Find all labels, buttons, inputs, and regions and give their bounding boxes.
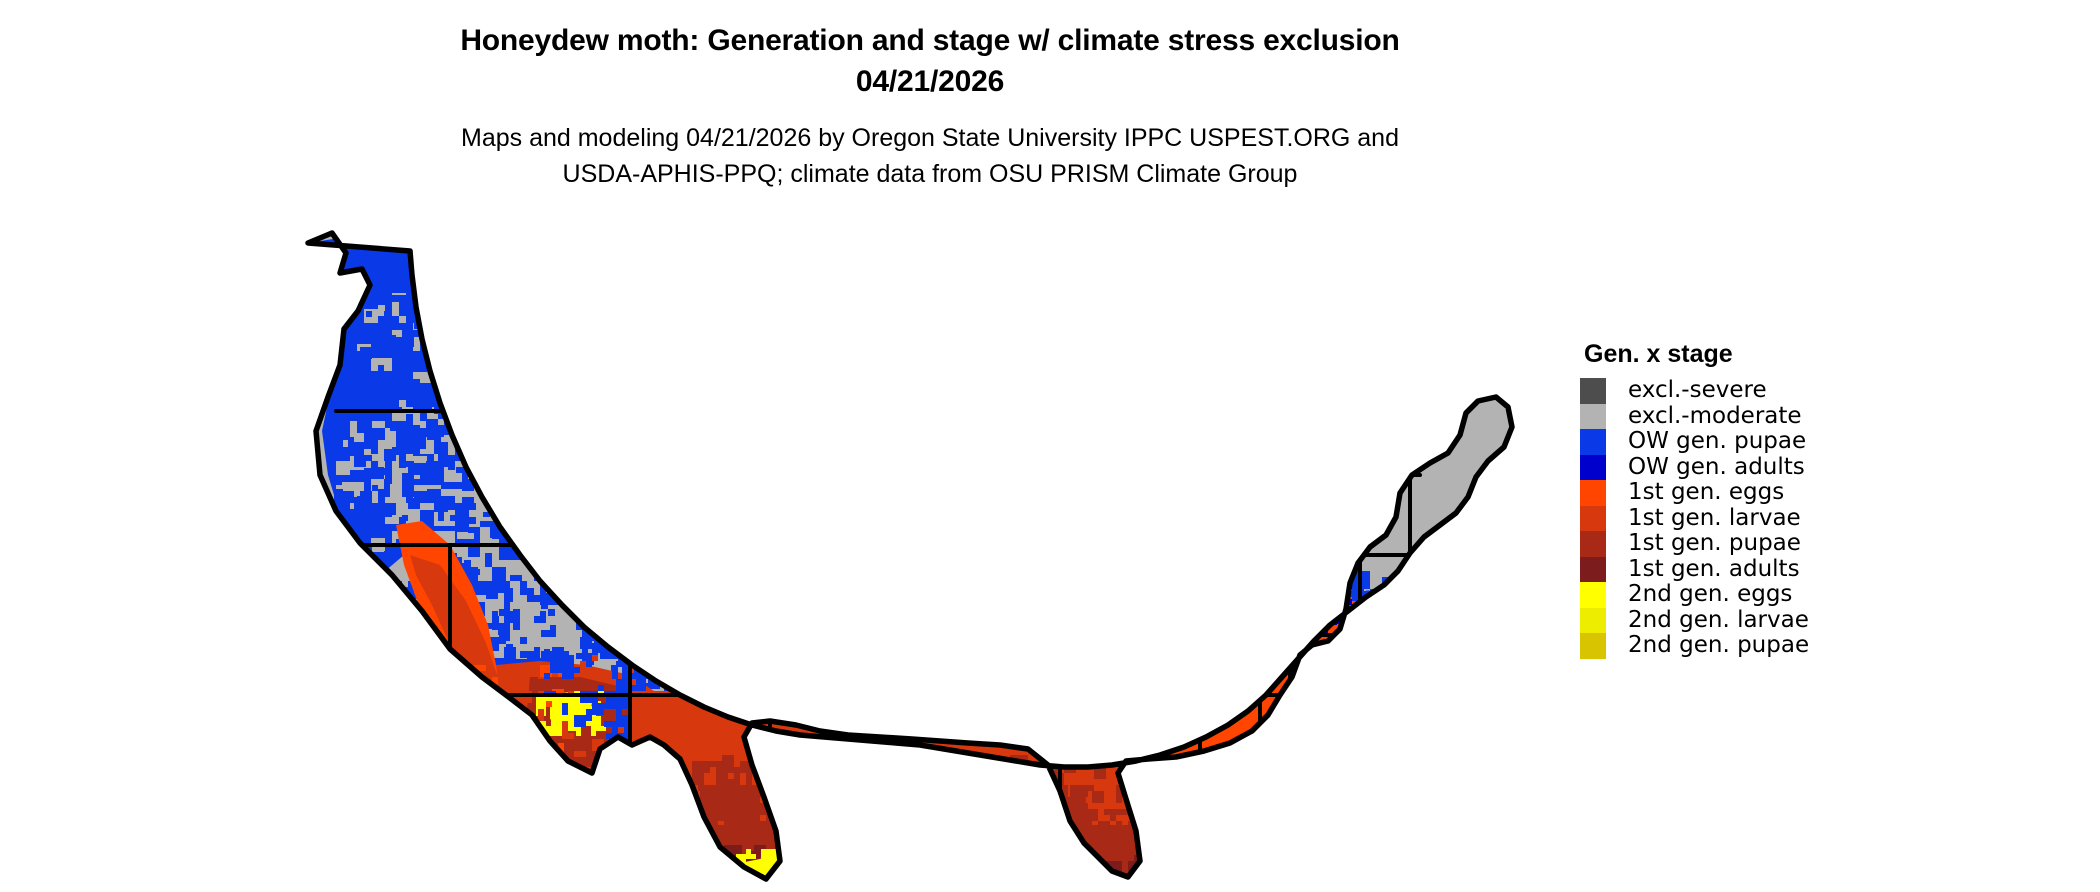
legend-rows: excl.-severeexcl.-moderateOW gen. pupaeO…: [1580, 378, 2060, 659]
legend-item-label: OW gen. pupae: [1628, 429, 1806, 455]
legend-color-swatch: [1580, 506, 1606, 532]
map-svg: [300, 225, 1580, 885]
legend-item-label: 2nd gen. larvae: [1628, 608, 1809, 634]
legend-item: OW gen. pupae: [1580, 429, 2060, 455]
legend-color-swatch: [1580, 404, 1606, 430]
legend-color-swatch: [1580, 557, 1606, 583]
legend-color-swatch: [1580, 480, 1606, 506]
page-subtitle: Maps and modeling 04/21/2026 by Oregon S…: [0, 120, 1860, 192]
legend: Gen. x stage excl.-severeexcl.-moderateO…: [1580, 340, 2060, 659]
legend-item-label: 1st gen. adults: [1628, 557, 1800, 583]
legend-item-label: 1st gen. pupae: [1628, 531, 1801, 557]
legend-color-swatch: [1580, 455, 1606, 481]
title-line-1: Honeydew moth: Generation and stage w/ c…: [0, 20, 1860, 61]
legend-item-label: 1st gen. eggs: [1628, 480, 1784, 506]
legend-color-swatch: [1580, 378, 1606, 404]
legend-item-label: 1st gen. larvae: [1628, 506, 1801, 532]
legend-item: OW gen. adults: [1580, 455, 2060, 481]
legend-item: 2nd gen. eggs: [1580, 582, 2060, 608]
page-title: Honeydew moth: Generation and stage w/ c…: [0, 20, 1860, 102]
legend-color-swatch: [1580, 582, 1606, 608]
us-choropleth-map: [300, 225, 1580, 885]
legend-item-label: excl.-severe: [1628, 378, 1767, 404]
legend-item: 2nd gen. pupae: [1580, 633, 2060, 659]
title-line-2: 04/21/2026: [0, 61, 1860, 102]
legend-item: excl.-severe: [1580, 378, 2060, 404]
legend-color-swatch: [1580, 633, 1606, 659]
map-page: Honeydew moth: Generation and stage w/ c…: [0, 0, 2100, 892]
legend-title: Gen. x stage: [1584, 340, 2060, 369]
legend-item-label: 2nd gen. pupae: [1628, 633, 1809, 659]
legend-item: 1st gen. larvae: [1580, 506, 2060, 532]
legend-item: excl.-moderate: [1580, 404, 2060, 430]
subtitle-line-2: USDA-APHIS-PPQ; climate data from OSU PR…: [0, 156, 1860, 192]
legend-color-swatch: [1580, 531, 1606, 557]
legend-item: 1st gen. eggs: [1580, 480, 2060, 506]
legend-item-label: 2nd gen. eggs: [1628, 582, 1792, 608]
legend-color-swatch: [1580, 429, 1606, 455]
legend-color-swatch: [1580, 608, 1606, 634]
legend-item-label: excl.-moderate: [1628, 404, 1802, 430]
legend-item-label: OW gen. adults: [1628, 455, 1805, 481]
subtitle-line-1: Maps and modeling 04/21/2026 by Oregon S…: [0, 120, 1860, 156]
legend-item: 2nd gen. larvae: [1580, 608, 2060, 634]
legend-item: 1st gen. pupae: [1580, 531, 2060, 557]
legend-item: 1st gen. adults: [1580, 557, 2060, 583]
